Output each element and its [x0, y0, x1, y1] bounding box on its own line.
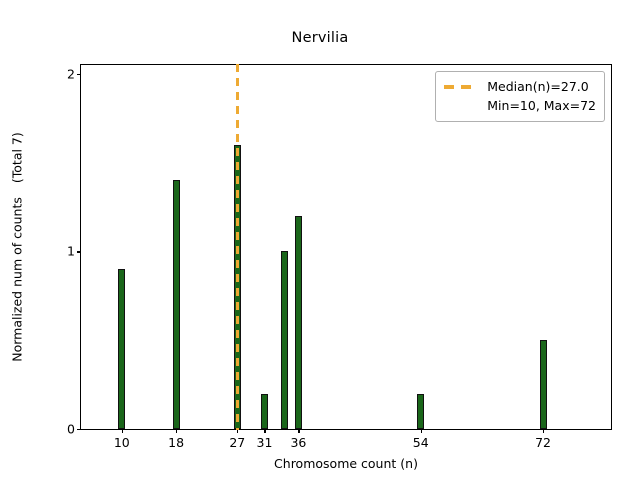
legend-label-minmax: Min=10, Max=72 — [487, 98, 596, 113]
x-tick-mark — [298, 429, 299, 433]
bar — [118, 269, 125, 429]
x-tick-mark — [421, 429, 422, 433]
bar — [295, 216, 302, 429]
bar — [540, 340, 547, 429]
bar — [261, 394, 268, 430]
x-tick-label: 27 — [229, 435, 245, 450]
x-axis-label: Chromosome count (n) — [81, 456, 611, 471]
legend-item-median: Median(n)=27.0 — [444, 77, 596, 96]
x-tick-label: 10 — [114, 435, 130, 450]
x-tick-mark — [176, 429, 177, 433]
x-tick-label: 18 — [168, 435, 184, 450]
bar — [173, 180, 180, 429]
legend-label-median: Median(n)=27.0 — [487, 79, 588, 94]
median-line — [236, 64, 239, 430]
legend: Median(n)=27.0 Min=10, Max=72 — [435, 71, 605, 122]
y-axis-label-main: Normalized num of counts — [10, 197, 25, 362]
x-tick-mark — [543, 429, 544, 433]
bar — [417, 394, 424, 430]
x-tick-mark — [264, 429, 265, 433]
plot-area: Normalized num of counts(Total 7) 012 10… — [80, 64, 612, 430]
bar — [281, 251, 288, 429]
x-tick-mark — [122, 429, 123, 433]
x-tick-label: 72 — [535, 435, 551, 450]
y-axis-label: Normalized num of counts(Total 7) — [10, 132, 25, 362]
y-tick-label: 1 — [67, 244, 75, 259]
x-tick-label: 54 — [413, 435, 429, 450]
y-axis-label-total: (Total 7) — [10, 132, 25, 197]
chart-figure: Nervilia Normalized num of counts(Total … — [0, 0, 640, 480]
x-tick-label: 36 — [290, 435, 306, 450]
legend-item-minmax: Min=10, Max=72 — [444, 96, 596, 115]
dashed-line-icon — [444, 85, 478, 89]
y-tick-label: 2 — [67, 66, 75, 81]
y-tick-mark — [77, 429, 81, 430]
x-tick-label: 31 — [257, 435, 273, 450]
y-tick-label: 0 — [67, 422, 75, 437]
page-title: Nervilia — [0, 30, 640, 46]
blank-swatch-icon — [444, 104, 478, 108]
